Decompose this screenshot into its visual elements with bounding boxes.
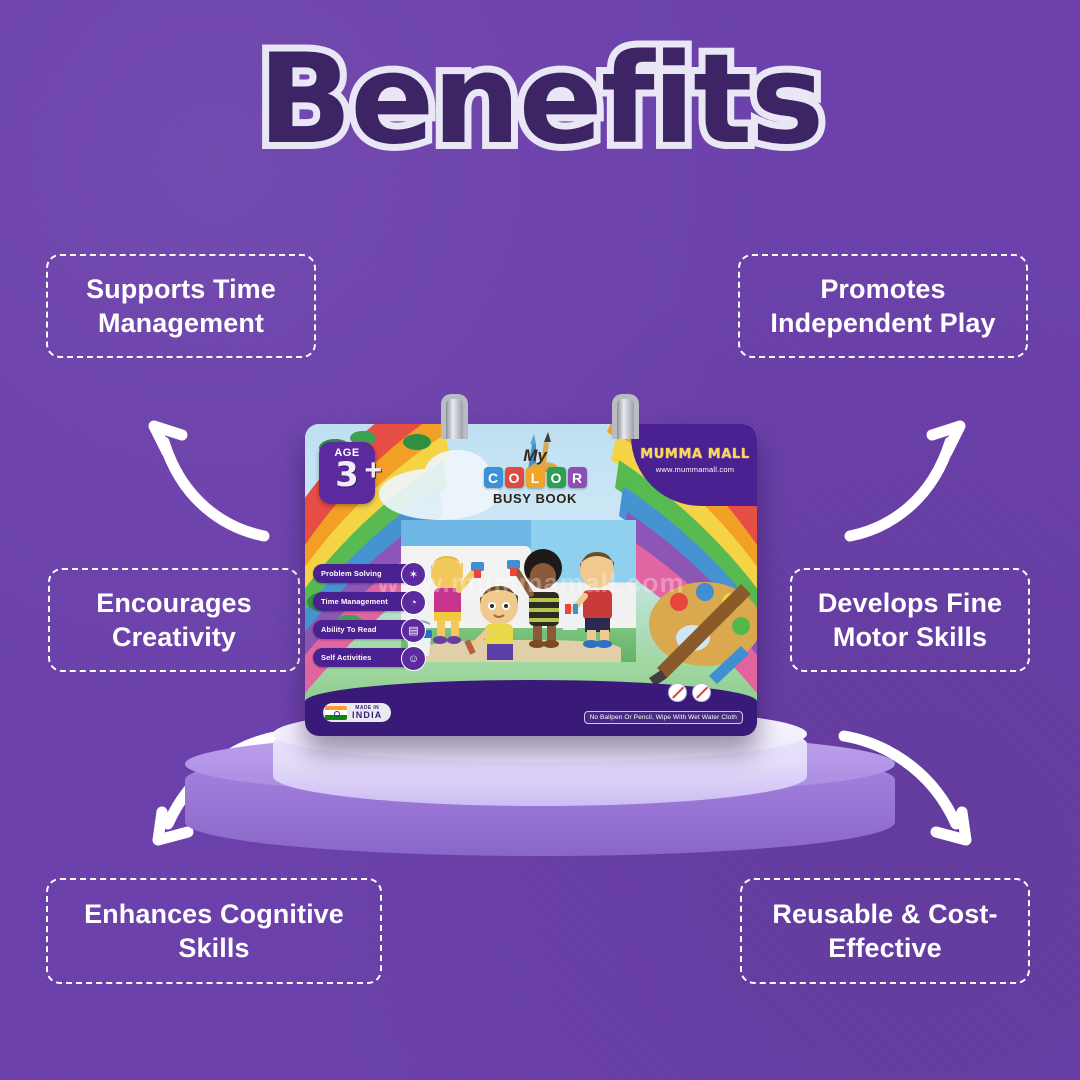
feature-pill-label: Self Activities — [321, 653, 371, 662]
benefit-label: Encourages Creativity — [64, 586, 284, 654]
age-badge-number: 3 — [335, 460, 359, 491]
feature-pill-label: Problem Solving — [321, 569, 382, 578]
made-in-country: INDIA — [352, 711, 383, 720]
busy-book-cover: AGE 3 + MUMMA MALL www.mummamall.com My … — [305, 424, 757, 736]
puzzle-icon: ✶ — [401, 562, 426, 587]
india-flag-icon — [325, 706, 347, 720]
care-instructions-note: No Ballpen Or Pencil, Wipe With Wet Wate… — [584, 711, 743, 724]
age-badge: AGE 3 + — [319, 442, 375, 504]
cover-title-letter-1: O — [505, 467, 524, 488]
binder-ring-right-icon — [612, 394, 639, 439]
product-image[interactable]: AGE 3 + MUMMA MALL www.mummamall.com My … — [305, 418, 757, 736]
brand-url: www.mummamall.com — [656, 465, 734, 474]
benefit-label: Develops Fine Motor Skills — [806, 586, 1014, 654]
benefit-card-encourages-creativity[interactable]: Encourages Creativity — [48, 568, 300, 672]
product-podium — [185, 714, 895, 864]
book-icon: ▤ — [401, 618, 426, 643]
cover-title-letter-3: O — [547, 467, 566, 488]
care-warning-icons — [668, 683, 711, 702]
made-in-india-badge: MADE IN INDIA — [323, 703, 391, 722]
brand-name: MUMMA MALL — [640, 447, 750, 462]
feature-pill-0: Problem Solving✶ — [313, 564, 417, 583]
feature-pill-list: Problem Solving✶Time Management◔Ability … — [313, 564, 417, 676]
benefit-label: Enhances Cognitive Skills — [62, 897, 366, 965]
cover-title-color-letters: COLOR — [455, 467, 615, 488]
cover-title-block: My COLOR BUSY BOOK — [455, 446, 615, 506]
clock-icon: ◔ — [401, 590, 426, 615]
cover-title-letter-0: C — [484, 467, 503, 488]
feature-pill-3: Self Activities☺ — [313, 648, 417, 667]
benefit-label: Supports Time Management — [62, 272, 300, 340]
feature-pill-label: Time Management — [321, 597, 388, 606]
age-badge-plus: + — [364, 456, 382, 486]
cover-title-subtitle: BUSY BOOK — [455, 491, 615, 506]
feature-pill-label: Ability To Read — [321, 625, 377, 634]
page-title: Benefits — [0, 38, 1080, 168]
benefit-card-enhances-cognitive-skills[interactable]: Enhances Cognitive Skills — [46, 878, 382, 984]
benefit-card-promotes-independent-play[interactable]: Promotes Independent Play — [738, 254, 1028, 358]
benefit-card-develops-fine-motor-skills[interactable]: Develops Fine Motor Skills — [790, 568, 1030, 672]
feature-pill-2: Ability To Read▤ — [313, 620, 417, 639]
product-bottom-bar: MADE IN INDIA No Ballpen Or Pencil, Wipe… — [305, 680, 757, 736]
benefit-card-supports-time-management[interactable]: Supports Time Management — [46, 254, 316, 358]
arrow-up-right-icon — [838, 408, 968, 548]
no-ballpen-icon — [668, 683, 687, 702]
benefit-card-reusable-cost-effective[interactable]: Reusable & Cost-Effective — [740, 878, 1030, 984]
cover-title-letter-4: R — [568, 467, 587, 488]
page-title-text: Benefits — [258, 38, 823, 162]
kid-boy-red — [561, 552, 614, 648]
feature-pill-1: Time Management◔ — [313, 592, 417, 611]
benefit-label: Promotes Independent Play — [754, 272, 1012, 340]
no-pencil-icon — [692, 683, 711, 702]
cover-title-my: My — [455, 446, 615, 466]
person-icon: ☺ — [401, 646, 426, 671]
arrow-up-left-icon — [146, 408, 276, 548]
binder-ring-left-icon — [441, 394, 468, 439]
cover-title-letter-2: L — [526, 467, 545, 488]
benefit-label: Reusable & Cost-Effective — [756, 897, 1014, 965]
